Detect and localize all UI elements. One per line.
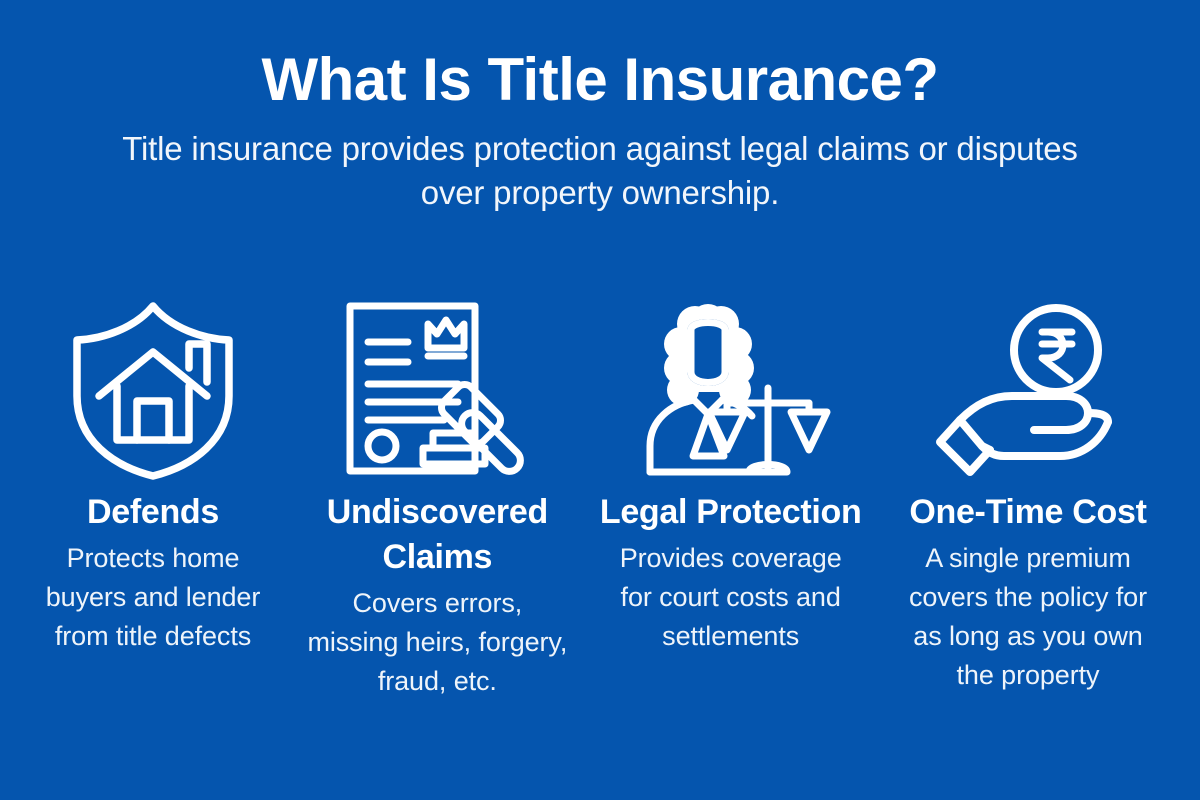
column-heading: Undiscovered Claims (291, 490, 583, 580)
column-heading: Legal Protection (600, 490, 862, 535)
page-subtitle: Title insurance provides protection agai… (95, 127, 1105, 216)
column-heading: One-Time Cost (909, 490, 1146, 535)
shield-house-icon (65, 296, 241, 484)
page-title: What Is Title Insurance? (0, 48, 1200, 113)
feature-column-defends: Defends Protects home buyers and lender … (22, 296, 284, 656)
judge-scales-icon (631, 296, 831, 484)
header: What Is Title Insurance? Title insurance… (0, 48, 1200, 216)
column-body: A single premium covers the policy for a… (894, 539, 1162, 696)
column-body: Protects home buyers and lender from tit… (33, 539, 273, 656)
column-body: Covers errors, missing heirs, forgery, f… (306, 584, 568, 701)
feature-column-one-time-cost: One-Time Cost A single premium covers th… (878, 296, 1178, 695)
document-gavel-icon (340, 296, 535, 484)
feature-column-legal-protection: Legal Protection Provides coverage for c… (591, 296, 871, 656)
hand-rupee-coin-icon (930, 296, 1126, 484)
infographic-poster: What Is Title Insurance? Title insurance… (0, 0, 1200, 800)
column-heading: Defends (87, 490, 219, 535)
feature-columns: Defends Protects home buyers and lender … (0, 296, 1200, 701)
feature-column-undiscovered-claims: Undiscovered Claims Covers errors, missi… (291, 296, 583, 701)
column-body: Provides coverage for court costs and se… (606, 539, 856, 656)
